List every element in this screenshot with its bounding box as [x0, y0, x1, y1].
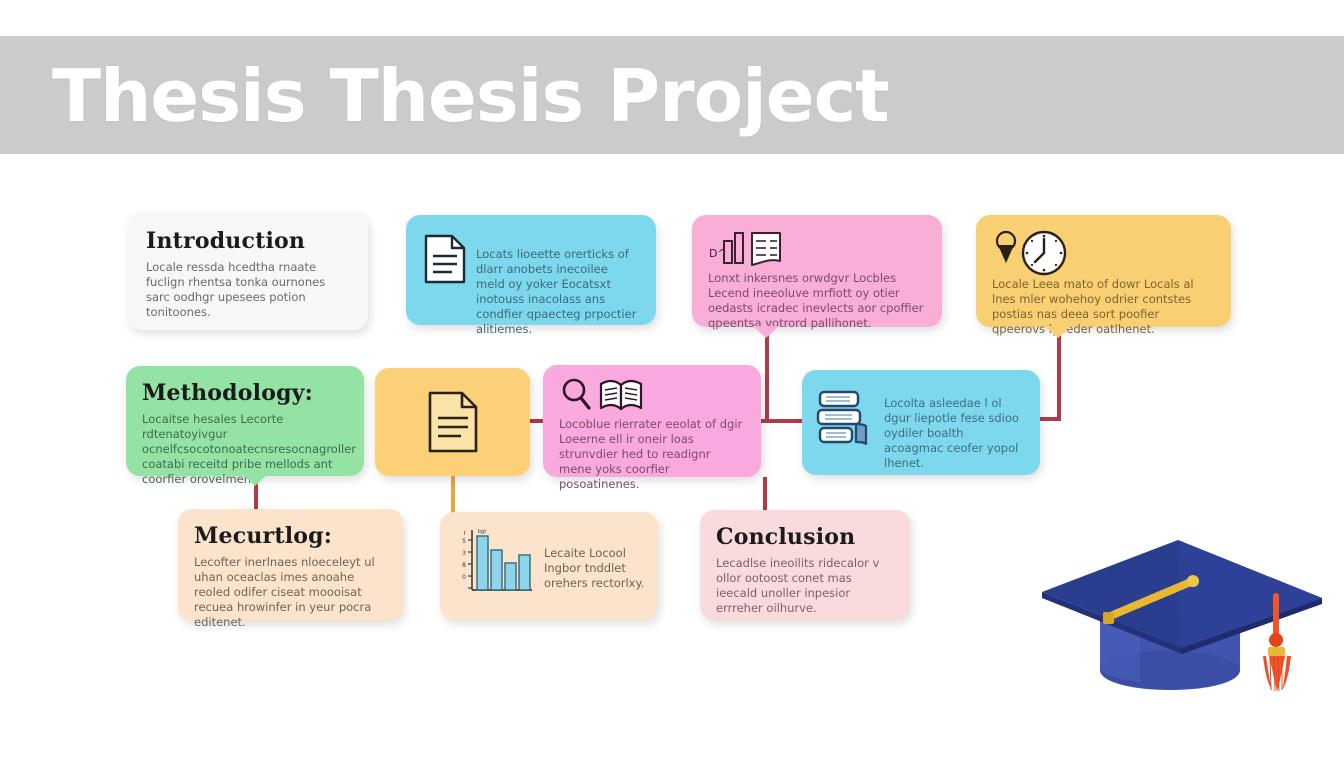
svg-text:8: 8 — [462, 562, 466, 569]
card-bar-chart-body: Lecaite Locool Ingbor tnddlet orehers re… — [544, 546, 646, 591]
page-title: Thesis Thesis Project — [52, 44, 889, 148]
bar-chart-icon: r 5 3 8 0 bgt — [452, 524, 538, 605]
document-icon — [425, 390, 481, 454]
card-yellow-time[interactable]: Locale Leea mato of dowr Locals al lnes … — [976, 215, 1231, 327]
stacked-books-icon — [816, 388, 874, 448]
card-cyan-document-body: Locats lioeette orerticks of dlarr anobe… — [476, 247, 640, 337]
card-pink-search-body: Locoblue rierrater eeolat of dgir Loeern… — [559, 417, 745, 492]
card-mecurtlog-title: Mecurtlog: — [194, 523, 387, 549]
card-pink-stats[interactable]: D^ Lonxt inkersnes orwdgvr Locbles Lecen… — [692, 215, 942, 327]
pointer-pink-stats — [753, 326, 779, 338]
card-bar-chart-text: Lecaite Locool Ingbor tnddlet orehers re… — [544, 524, 646, 591]
connector-yellowdoc-down — [451, 476, 455, 516]
svg-text:bgt: bgt — [478, 529, 486, 535]
svg-text:0: 0 — [462, 574, 466, 581]
card-conclusion[interactable]: Conclusion Lecadlse ineoilits ridecalor … — [700, 510, 910, 620]
card-yellow-time-body: Locale Leea mato of dowr Locals al lnes … — [992, 277, 1215, 337]
card-conclusion-body: Lecadlse ineoilits ridecalor v ollor oot… — [716, 556, 894, 616]
svg-text:3: 3 — [462, 550, 466, 557]
clock-icon — [1023, 232, 1065, 274]
card-methodology[interactable]: Methodology: Locaitse hesales Lecorte rd… — [126, 366, 364, 476]
svg-text:5: 5 — [462, 538, 466, 545]
connector-search-to-books — [761, 419, 806, 423]
svg-text:r: r — [464, 530, 467, 537]
card-cyan-document[interactable]: Locats lioeette orerticks of dlarr anobe… — [406, 215, 656, 325]
card-yellow-time-icons — [992, 229, 1215, 277]
card-introduction-title: Introduction — [146, 228, 350, 254]
card-introduction[interactable]: Introduction Locale ressda hcedtha rnaat… — [128, 212, 368, 330]
card-methodology-title: Methodology: — [142, 380, 348, 406]
bar-chart-icon: D^ — [708, 229, 786, 269]
pointer-yellow-time — [1045, 326, 1071, 338]
location-pin-icon — [997, 232, 1015, 263]
card-yellow-document[interactable] — [375, 368, 530, 476]
open-book-icon — [601, 381, 641, 409]
card-pink-stats-body: Lonxt inkersnes orwdgvr Locbles Lecend i… — [708, 271, 926, 331]
card-bar-chart[interactable]: r 5 3 8 0 bgt Lecaite Locool Ingbor tndd… — [440, 512, 658, 620]
card-mecurtlog[interactable]: Mecurtlog: Lecofter inerlnaes nloeceleyt… — [178, 509, 403, 621]
document-icon — [422, 233, 468, 285]
card-cyan-books[interactable]: Locolta asleedae l ol dgur liepotle fese… — [802, 370, 1040, 475]
connector-search-down — [763, 477, 767, 513]
card-pink-stats-icons: D^ — [708, 229, 926, 269]
mini-bar-chart: r 5 3 8 0 bgt — [452, 524, 538, 600]
card-cyan-books-text: Locolta asleedae l ol dgur liepotle fese… — [884, 382, 1026, 471]
infographic-canvas: Thesis Thesis Project Introduction Local… — [0, 0, 1344, 768]
connector-yellowtime-down — [1057, 327, 1061, 419]
card-mecurtlog-body: Lecofter inerlnaes nloeceleyt ul uhan oc… — [194, 555, 387, 630]
card-conclusion-title: Conclusion — [716, 524, 894, 550]
card-pink-search[interactable]: Locoblue rierrater eeolat of dgir Loeern… — [543, 365, 761, 477]
pointer-methodology — [242, 474, 268, 486]
graduation-cap-illustration — [1030, 520, 1330, 710]
page-icon — [752, 233, 780, 265]
connector-pink-stats-down — [765, 327, 769, 422]
magnifier-icon — [564, 380, 589, 408]
card-cyan-document-text: Locats lioeette orerticks of dlarr anobe… — [476, 231, 640, 337]
card-cyan-books-body: Locolta asleedae l ol dgur liepotle fese… — [884, 396, 1026, 471]
card-introduction-body: Locale ressda hcedtha rnaate fuclign rhe… — [146, 260, 350, 320]
card-pink-search-icons — [559, 377, 745, 413]
